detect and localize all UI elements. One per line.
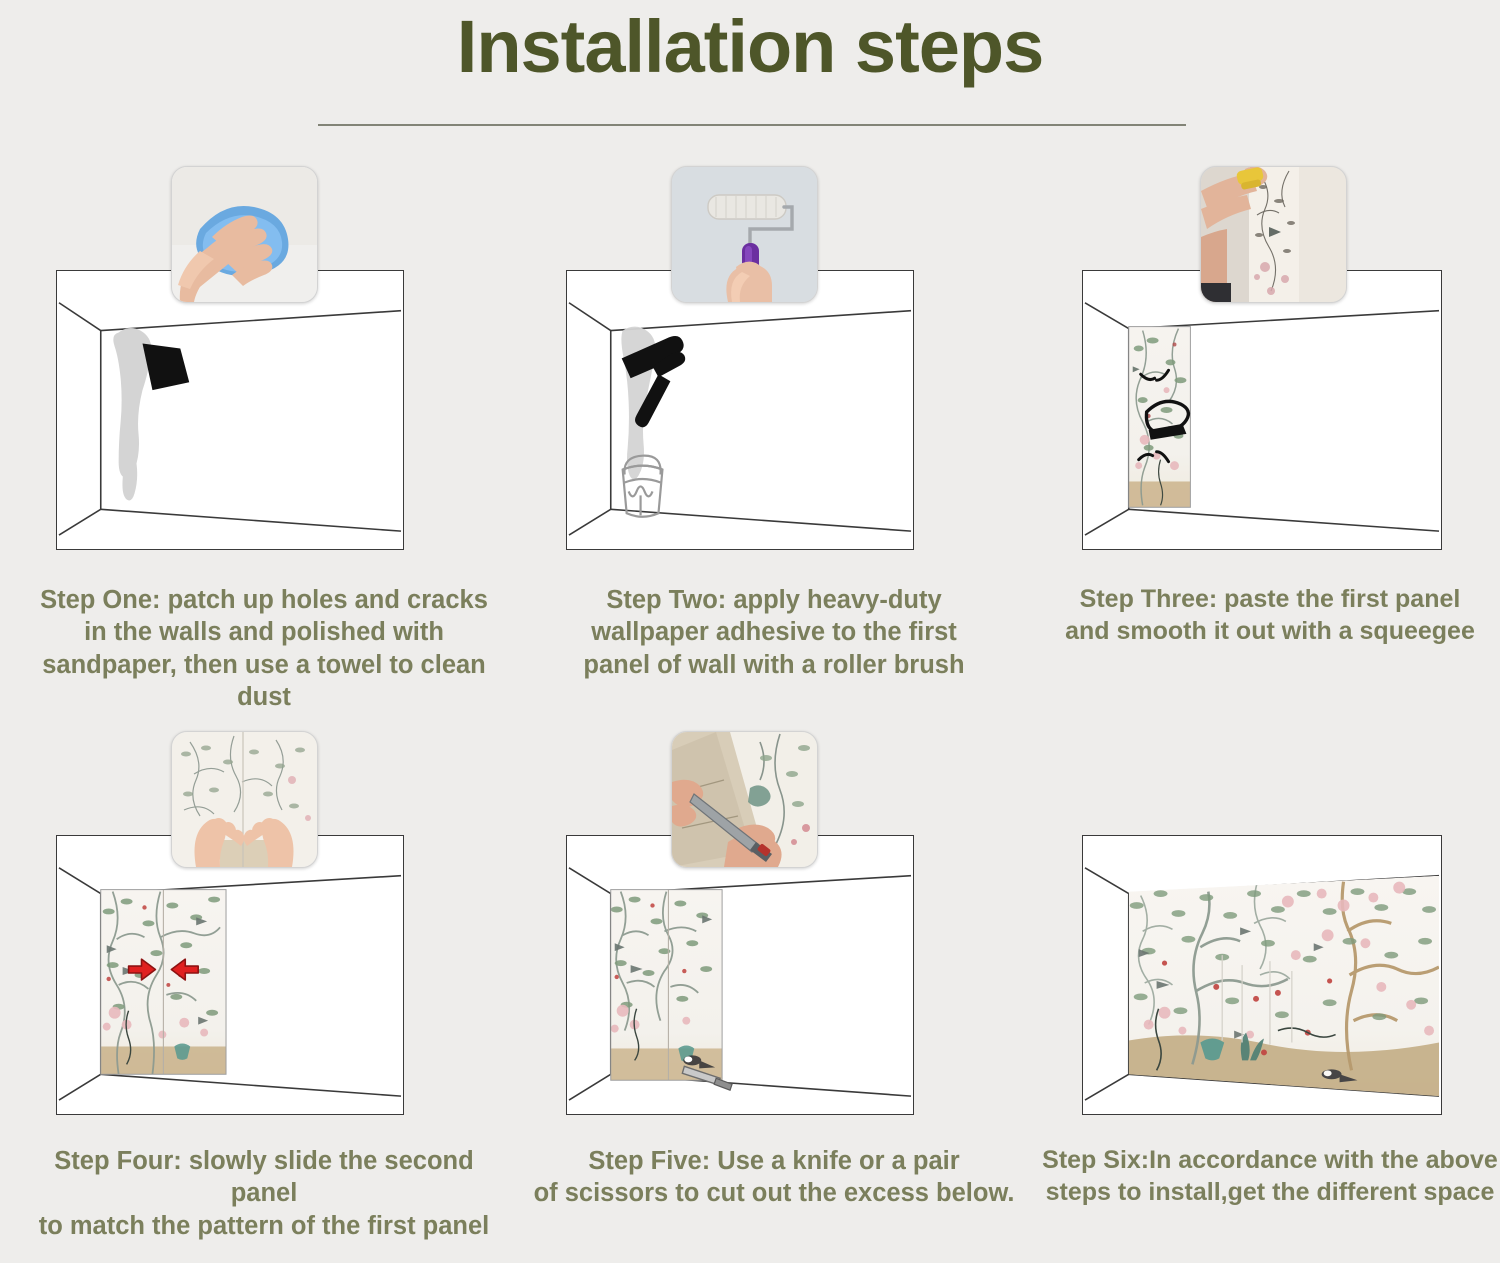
- step-card-five: Step Five: Use a knife or a pair of scis…: [528, 725, 1020, 1245]
- title-divider: [318, 124, 1186, 126]
- room-drawing-step-five: [566, 835, 914, 1115]
- step-six-caption: Step Six:In accordance with the above st…: [1040, 1145, 1500, 1209]
- sponge-trowel-icon: [143, 343, 190, 390]
- step-three-caption: Step Three: paste the first panel and sm…: [1040, 584, 1500, 648]
- steps-grid: Step One: patch up holes and cracks in t…: [0, 160, 1500, 1260]
- room-drawing-step-two: [566, 270, 914, 550]
- step-card-one: Step One: patch up holes and cracks in t…: [18, 160, 510, 680]
- step-card-two: Step Two: apply heavy-duty wallpaper adh…: [528, 160, 1020, 680]
- step-one-caption: Step One: patch up holes and cracks in t…: [18, 584, 510, 714]
- step-three-illustration: [1040, 160, 1500, 570]
- step-card-six: Step Six:In accordance with the above st…: [1040, 725, 1500, 1245]
- step-two-caption: Step Two: apply heavy-duty wallpaper adh…: [528, 584, 1020, 681]
- photo-hands-aligning-seam: [171, 731, 318, 868]
- step-card-four: Step Four: slowly slide the second panel…: [18, 725, 510, 1245]
- step-one-illustration: [18, 160, 510, 570]
- step-six-illustration: [1040, 725, 1500, 1135]
- step-four-caption: Step Four: slowly slide the second panel…: [18, 1145, 510, 1242]
- photo-squeegee-on-panel: [1200, 166, 1347, 303]
- step-two-illustration: [528, 160, 1020, 570]
- room-drawing-step-six: [1082, 835, 1442, 1115]
- page-title: Installation steps: [0, 6, 1500, 87]
- step-five-illustration: [528, 725, 1020, 1135]
- photo-knife-trimming: [671, 731, 818, 868]
- step-card-three: Step Three: paste the first panel and sm…: [1040, 160, 1500, 680]
- installation-steps-infographic: Installation steps: [0, 0, 1500, 1263]
- room-drawing-step-one: [56, 270, 404, 550]
- room-drawing-step-four: [56, 835, 404, 1115]
- photo-paint-roller: [671, 166, 818, 303]
- photo-hand-with-blue-cloth: [171, 166, 318, 303]
- room-drawing-step-three: [1082, 270, 1442, 550]
- step-four-illustration: [18, 725, 510, 1135]
- step-five-caption: Step Five: Use a knife or a pair of scis…: [528, 1145, 1020, 1210]
